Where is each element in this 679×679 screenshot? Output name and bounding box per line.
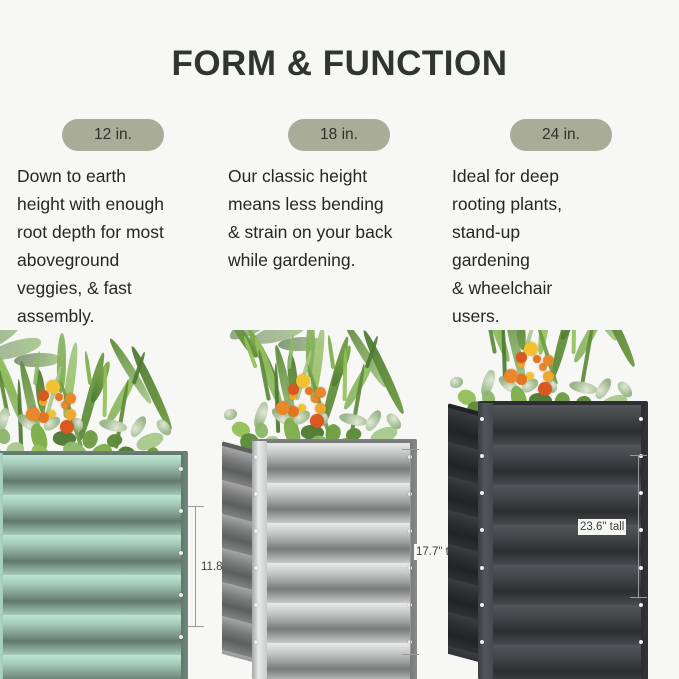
- fern-frond: [514, 330, 528, 350]
- planter-bed-18in: [222, 417, 417, 679]
- fern-frond: [307, 330, 326, 402]
- marigold-flower: [298, 404, 306, 412]
- dimension-line-24in: 23.6" tall: [628, 449, 679, 604]
- grass-blade: [257, 349, 271, 401]
- product-photo-row: 11.8" tall 17.7" tall: [0, 330, 679, 679]
- rivet: [254, 455, 258, 459]
- fern-frond: [107, 336, 155, 405]
- fern-frond: [572, 330, 620, 343]
- fern-frond: [360, 330, 407, 416]
- grass-blade: [242, 335, 257, 368]
- fern-frond: [286, 353, 300, 398]
- grass-blade: [534, 330, 558, 385]
- rivet: [254, 529, 258, 533]
- broad-leaf: [251, 330, 307, 347]
- fern-frond: [478, 330, 512, 363]
- fern-frond: [245, 330, 280, 385]
- rivet: [179, 635, 183, 639]
- broad-leaf: [278, 337, 324, 351]
- planter-bed-12in: [0, 429, 188, 679]
- dimension-rule-18in: [410, 449, 411, 655]
- rivet-column-post-24in: [480, 409, 488, 673]
- rivet: [179, 467, 183, 471]
- marigold-flower: [38, 390, 49, 401]
- fern-frond: [319, 335, 352, 426]
- fern-frond: [0, 343, 19, 401]
- marigold-flower: [39, 398, 47, 406]
- product-image-12in: [0, 429, 188, 679]
- marigold-flower: [517, 360, 525, 368]
- broad-leaf: [225, 330, 288, 345]
- marigold-flower: [288, 406, 299, 417]
- grass-blade: [132, 351, 147, 384]
- marigold-flower: [516, 352, 527, 363]
- rivet: [254, 640, 258, 644]
- fern-frond: [341, 330, 389, 390]
- marigold-flower: [296, 374, 310, 388]
- fern-frond: [103, 371, 140, 428]
- dimension-rule-24in: [638, 455, 639, 598]
- size-badge-24in: 24 in.: [510, 119, 612, 151]
- planter-front-panel-12in: [0, 455, 188, 679]
- grass-blade: [103, 365, 108, 417]
- grass-blade: [580, 330, 596, 386]
- rivet: [480, 491, 484, 495]
- planter-corner-post-12in: [0, 453, 3, 679]
- marigold-flower: [311, 395, 319, 403]
- marigold-flower: [539, 363, 547, 371]
- rivet: [639, 640, 643, 644]
- fern-frond: [558, 330, 583, 341]
- size-badge-18in-label: 18 in.: [320, 126, 358, 144]
- marigold-flower: [276, 401, 290, 415]
- marigold-flower: [38, 412, 49, 423]
- grass-blade: [572, 330, 577, 354]
- rivet: [179, 551, 183, 555]
- marigold-flower: [315, 403, 326, 414]
- marigold-flower: [288, 384, 299, 395]
- marigold-flower: [533, 355, 541, 363]
- description-12in: Down to earth height with enough root de…: [17, 162, 217, 330]
- fern-frond: [61, 342, 80, 419]
- marigold-flower: [524, 342, 538, 356]
- broad-leaf: [0, 330, 25, 361]
- planter-front-panel-18in: [256, 443, 417, 679]
- marigold-flower: [65, 409, 76, 420]
- dimension-cap-bottom-12in: [187, 626, 204, 627]
- rivet: [179, 509, 183, 513]
- marigold-flower: [65, 393, 76, 404]
- corrugation-front-24in: [482, 405, 648, 679]
- planter-front-panel-24in: [482, 405, 648, 679]
- fern-frond: [590, 330, 637, 369]
- grass-blade: [483, 330, 497, 354]
- size-badge-row: 12 in. 18 in. 24 in.: [0, 119, 679, 153]
- marigold-flower: [305, 387, 313, 395]
- rivet: [480, 640, 484, 644]
- fern-frond: [228, 330, 260, 360]
- dimension-rule-12in: [195, 506, 196, 627]
- dimension-cap-bottom-24in: [630, 597, 647, 598]
- grass-blade: [523, 330, 541, 354]
- fern-frond: [536, 330, 555, 355]
- marigold-flower: [46, 380, 60, 394]
- product-image-18in: [222, 417, 417, 679]
- grass-blade: [327, 335, 336, 369]
- fern-frond: [548, 330, 581, 380]
- fern-frond: [471, 330, 506, 338]
- broad-leaf: [14, 353, 60, 367]
- grass-blade: [286, 335, 294, 369]
- size-badge-12in-label: 12 in.: [94, 126, 132, 144]
- fern-frond: [329, 344, 354, 388]
- fern-frond: [56, 333, 66, 393]
- grass-blade: [45, 365, 63, 416]
- marigold-flower: [315, 387, 326, 398]
- corrugation-front-12in: [0, 455, 188, 679]
- rivet: [254, 603, 258, 607]
- broad-leaf: [0, 335, 43, 364]
- description-24in: Ideal for deep rooting plants, stand-up …: [452, 162, 657, 330]
- grass-blade: [84, 351, 93, 385]
- size-badge-24in-label: 24 in.: [542, 126, 580, 144]
- rivet: [254, 492, 258, 496]
- fern-frond: [341, 355, 378, 412]
- rivet: [480, 454, 484, 458]
- rivet: [480, 528, 484, 532]
- corrugation-front-18in: [256, 443, 417, 679]
- grass-blade: [295, 349, 313, 400]
- fern-frond: [128, 344, 175, 431]
- fern-frond: [306, 330, 316, 377]
- grass-blade: [364, 335, 379, 368]
- description-18in: Our classic height means less bending & …: [228, 162, 433, 274]
- rivet-column-post-18in: [254, 447, 262, 673]
- marigold-flower: [61, 401, 69, 409]
- grass-blade: [33, 351, 41, 385]
- size-badge-18in: 18 in.: [288, 119, 390, 151]
- grass-blade: [0, 365, 10, 417]
- rivet: [639, 417, 643, 421]
- rivet: [254, 566, 258, 570]
- grass-blade: [501, 330, 507, 386]
- fern-frond: [34, 369, 48, 414]
- page-title: FORM & FUNCTION: [0, 44, 679, 84]
- rivet: [480, 417, 484, 421]
- fern-frond: [88, 360, 113, 404]
- fern-frond: [571, 330, 608, 364]
- size-badge-12in: 12 in.: [62, 119, 164, 151]
- marigold-flower: [55, 393, 63, 401]
- marigold-flower: [289, 392, 297, 400]
- infographic-page: FORM & FUNCTION 12 in. 18 in. 24 in. Dow…: [0, 0, 679, 679]
- marigold-flower: [26, 407, 40, 421]
- marigold-flower: [543, 355, 554, 366]
- dimension-cap-bottom-18in: [402, 654, 419, 655]
- rivet: [480, 566, 484, 570]
- fern-frond: [0, 352, 28, 426]
- dimension-label-24in: 23.6" tall: [578, 519, 626, 535]
- rivet: [179, 593, 183, 597]
- marigold-flower: [48, 410, 56, 418]
- fern-frond: [251, 336, 285, 410]
- grass-blade: [342, 349, 347, 401]
- rivet: [480, 603, 484, 607]
